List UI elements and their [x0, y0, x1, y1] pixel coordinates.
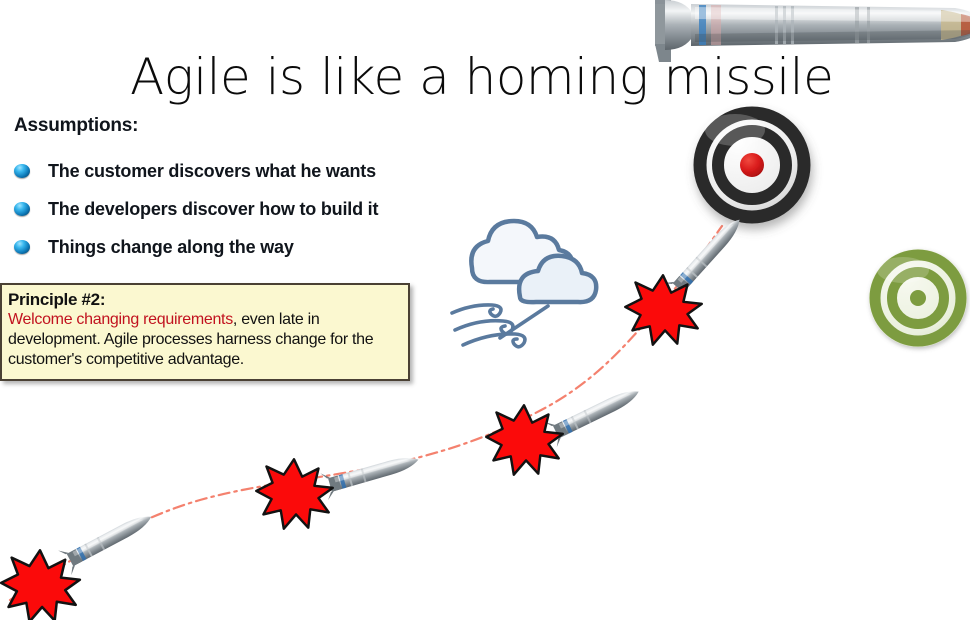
principle-heading: Principle #2: — [8, 289, 400, 310]
small-missile — [320, 446, 422, 500]
small-missile — [58, 504, 158, 575]
list-item-label: The customer discovers what he wants — [48, 161, 376, 182]
small-missile — [544, 379, 644, 447]
list-item: The developers discover how to build it — [10, 190, 480, 228]
blue-sphere-bullet-icon — [14, 164, 30, 178]
dark-bullseye-target — [694, 107, 810, 223]
explosion-burst — [1, 550, 80, 620]
explosion-burst — [256, 459, 333, 528]
list-item-label: Things change along the way — [48, 237, 294, 258]
explosion-burst — [486, 405, 563, 474]
green-bullseye-target — [869, 249, 967, 347]
list-item-label: The developers discover how to build it — [48, 199, 378, 220]
page-title: Agile is like a homing missile — [130, 48, 850, 106]
assumptions-list: The customer discovers what he wants The… — [10, 152, 480, 266]
principle-highlight-text: Welcome changing requirements — [8, 311, 233, 328]
list-item: Things change along the way — [10, 228, 480, 266]
explosion-burst — [625, 275, 702, 344]
assumptions-heading: Assumptions: — [14, 115, 138, 137]
slide-canvas: Agile is like a homing missile Assumptio… — [0, 0, 970, 620]
principle-body: Welcome changing requirements, even late… — [8, 310, 400, 370]
blue-sphere-bullet-icon — [14, 202, 30, 216]
list-item: The customer discovers what he wants — [10, 152, 480, 190]
blue-sphere-bullet-icon — [14, 240, 30, 254]
small-missile — [664, 210, 750, 302]
principle-callout-box: Principle #2: Welcome changing requireme… — [0, 283, 410, 381]
